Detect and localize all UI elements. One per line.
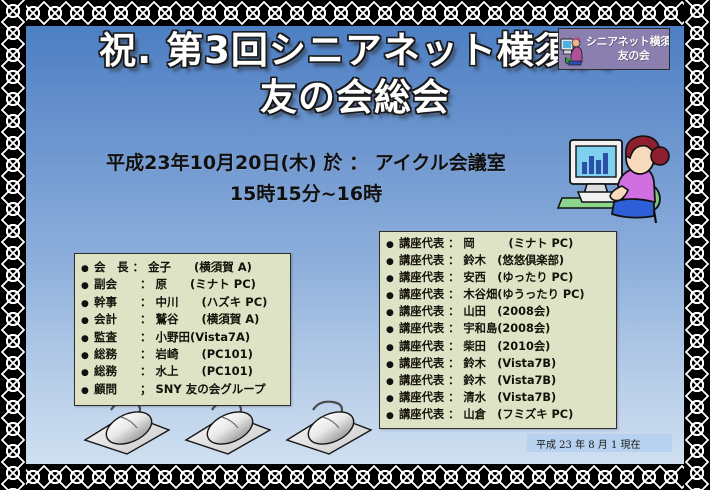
list-item: ● 幹事 ： 中川 (ハズキ PC) [81, 295, 282, 312]
decorative-border-left [0, 0, 26, 490]
instructor-row-label: 講座代表 ： 宇和島(2008会) [399, 321, 610, 337]
person-at-computer-illustration [556, 124, 674, 224]
list-item: ● 講座代表 ： 木谷畑(ゆうったり PC) [386, 287, 610, 304]
bullet-icon: ● [81, 349, 94, 364]
decorative-border-right [684, 0, 710, 490]
bullet-icon: ● [386, 340, 399, 356]
list-item: ● 総務 ： 岩崎 (PC101) [81, 347, 282, 364]
officer-row-label: 監査 ： 小野田(Vista7A) [94, 330, 282, 345]
instructor-row-label: 講座代表 ： 柴田 (2010会) [399, 339, 610, 355]
bullet-icon: ● [81, 314, 94, 329]
poster-canvas: 祝. 第3回シニアネット横須賀 友の会総会 平成23年10月20日(木) 於 ：… [26, 26, 684, 464]
bullet-icon: ● [81, 262, 94, 277]
instructor-row-label: 講座代表 ： 山田 (2008会) [399, 304, 610, 320]
title-line-2: 友の会総会 [26, 75, 684, 120]
list-item: ● 講座代表 ： 鈴木 (悠悠倶楽部) [386, 253, 610, 270]
decorative-border-top [0, 0, 710, 26]
bullet-icon: ● [386, 374, 399, 390]
bullet-icon: ● [386, 305, 399, 321]
poster-root: 祝. 第3回シニアネット横須賀 友の会総会 平成23年10月20日(木) 於 ：… [0, 0, 710, 490]
logo-line-2: 友の会 [586, 49, 670, 63]
officer-row-label: 総務 ： 水上 (PC101) [94, 364, 282, 379]
list-item: ● 顧問 ； SNY 友の会グループ [81, 382, 282, 399]
bullet-icon: ● [386, 254, 399, 270]
instructor-row-label: 講座代表 ： 安西 (ゆったり PC) [399, 270, 610, 286]
officer-row-label: 副会 ： 原 (ミナト PC) [94, 277, 282, 292]
computer-mouse-illustration [283, 398, 379, 456]
list-item: ● 監査 ： 小野田(Vista7A) [81, 330, 282, 347]
event-date-venue: 平成23年10月20日(木) 於 ： アイクル会議室 [26, 148, 586, 179]
instructor-row-label: 講座代表 ： 鈴木 (Vista7B) [399, 373, 610, 389]
bullet-icon: ● [386, 237, 399, 253]
bullet-icon: ● [81, 366, 94, 381]
bullet-icon: ● [81, 297, 94, 312]
list-item: ● 会 長 ： 金子 (横須賀 A) [81, 260, 282, 277]
list-item: ● 会計 ： 鷲谷 (横須賀 A) [81, 312, 282, 329]
officer-row-label: 幹事 ： 中川 (ハズキ PC) [94, 295, 282, 310]
instructor-row-label: 講座代表 ： 鈴木 (Vista7B) [399, 356, 610, 372]
bullet-icon: ● [81, 332, 94, 347]
list-item: ● 講座代表 ： 鈴木 (Vista7B) [386, 373, 610, 390]
revision-date-stamp: 平成 23 年 8 月 1 現在 [527, 434, 672, 452]
list-item: ● 講座代表 ： 宇和島(2008会) [386, 321, 610, 338]
list-item: ● 講座代表 ： 山田 (2008会) [386, 304, 610, 321]
event-details: 平成23年10月20日(木) 於 ： アイクル会議室 15時15分~16時 [26, 148, 586, 210]
list-item: ● 総務 ： 水上 (PC101) [81, 364, 282, 381]
instructor-row-label: 講座代表 ： 木谷畑(ゆうったり PC) [399, 287, 610, 303]
computer-mice-illustrations [81, 398, 381, 456]
bullet-icon: ● [386, 357, 399, 373]
instructor-row-label: 講座代表 ： 清水 (Vista7B) [399, 390, 610, 406]
bullet-icon: ● [386, 391, 399, 407]
computer-mouse-illustration [182, 398, 278, 456]
officer-row-label: 会 長 ： 金子 (横須賀 A) [94, 260, 282, 275]
instructor-row-label: 講座代表 ： 山倉 (フミズキ PC) [399, 407, 610, 423]
instructor-row-label: 講座代表 ： 岡 (ミナト PC) [399, 236, 610, 252]
event-time: 15時15分~16時 [26, 179, 586, 210]
list-item: ● 講座代表 ： 岡 (ミナト PC) [386, 236, 610, 253]
bullet-icon: ● [81, 384, 94, 399]
bullet-icon: ● [81, 279, 94, 294]
list-item: ● 副会 ： 原 (ミナト PC) [81, 277, 282, 294]
logo-line-1: シニアネット横須賀 [586, 35, 670, 49]
list-item: ● 講座代表 ： 鈴木 (Vista7B) [386, 356, 610, 373]
officer-row-label: 顧問 ； SNY 友の会グループ [94, 382, 282, 397]
list-item: ● 講座代表 ： 柴田 (2010会) [386, 339, 610, 356]
officer-row-label: 会計 ： 鷲谷 (横須賀 A) [94, 312, 282, 327]
computer-mouse-illustration [81, 398, 177, 456]
bullet-icon: ● [386, 288, 399, 304]
officers-list-box: ● 会 長 ： 金子 (横須賀 A) ● 副会 ： 原 (ミナト PC) ● 幹… [74, 253, 291, 406]
instructors-list-box: ● 講座代表 ： 岡 (ミナト PC) ● 講座代表 ： 鈴木 (悠悠倶楽部) … [379, 231, 617, 429]
list-item: ● 講座代表 ： 安西 (ゆったり PC) [386, 270, 610, 287]
instructor-row-label: 講座代表 ： 鈴木 (悠悠倶楽部) [399, 253, 610, 269]
bullet-icon: ● [386, 271, 399, 287]
list-item: ● 講座代表 ： 山倉 (フミズキ PC) [386, 407, 610, 424]
organization-logo-badge: シニアネット横須賀 友の会 [558, 28, 670, 70]
logo-text-block: シニアネット横須賀 友の会 [586, 35, 670, 63]
revision-date-text: 平成 23 年 8 月 1 現在 [527, 436, 641, 451]
person-at-computer-icon [560, 31, 586, 67]
bullet-icon: ● [386, 322, 399, 338]
decorative-border-bottom [0, 464, 710, 490]
list-item: ● 講座代表 ： 清水 (Vista7B) [386, 390, 610, 407]
officer-row-label: 総務 ： 岩崎 (PC101) [94, 347, 282, 362]
bullet-icon: ● [386, 408, 399, 424]
